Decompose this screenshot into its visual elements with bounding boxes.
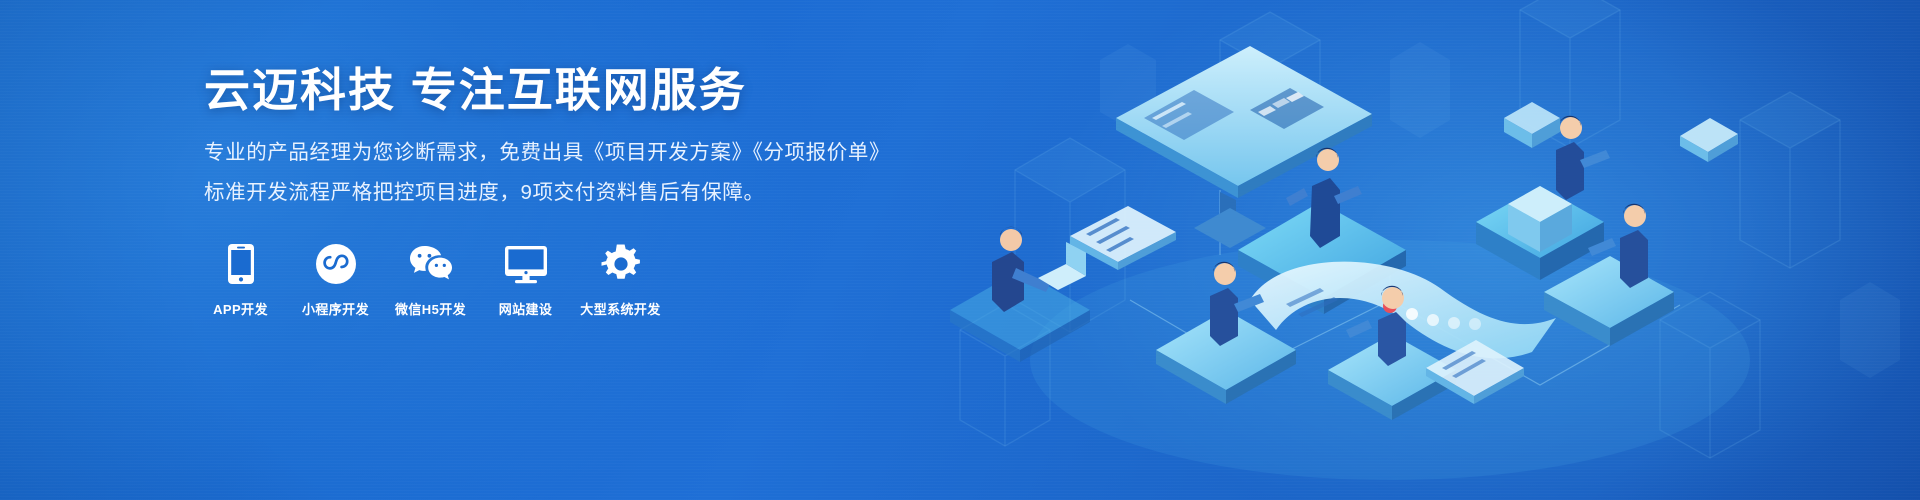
service-label: 微信H5开发 xyxy=(395,299,466,318)
mini-program-icon xyxy=(316,240,356,284)
service-label: APP开发 xyxy=(213,299,268,318)
banner-headline: 云迈科技 专注互联网服务 xyxy=(204,62,924,118)
service-item-large-system[interactable]: 大型系统开发 xyxy=(584,240,657,318)
wechat-icon xyxy=(408,240,454,284)
service-list: APP开发 小程序开发 xyxy=(204,240,924,318)
gear-icon xyxy=(601,240,641,284)
subtitle-line-1: 专业的产品经理为您诊断需求，免费出具《项目开发方案》《分项报价单》 xyxy=(204,136,924,169)
banner-subtitle: 专业的产品经理为您诊断需求，免费出具《项目开发方案》《分项报价单》 标准开发流程… xyxy=(204,136,924,209)
service-label: 大型系统开发 xyxy=(580,299,660,318)
service-label: 小程序开发 xyxy=(302,299,369,318)
small-floating-screen xyxy=(1680,118,1738,162)
service-item-miniprogram[interactable]: 小程序开发 xyxy=(299,240,372,318)
subtitle-line-2: 标准开发流程严格把控项目进度，9项交付资料售后有保障。 xyxy=(204,176,924,209)
service-item-website[interactable]: 网站建设 xyxy=(489,240,562,318)
hero-banner: 云迈科技 专注互联网服务 专业的产品经理为您诊断需求，免费出具《项目开发方案》《… xyxy=(0,0,1920,500)
monitor-icon xyxy=(505,240,547,284)
service-item-app[interactable]: APP开发 xyxy=(204,240,277,318)
service-item-wechat-h5[interactable]: 微信H5开发 xyxy=(394,240,467,318)
banner-copy: 云迈科技 专注互联网服务 专业的产品经理为您诊断需求，免费出具《项目开发方案》《… xyxy=(204,62,924,318)
isometric-illustration xyxy=(920,0,1920,500)
service-label: 网站建设 xyxy=(499,299,553,318)
mobile-phone-icon xyxy=(228,240,254,284)
